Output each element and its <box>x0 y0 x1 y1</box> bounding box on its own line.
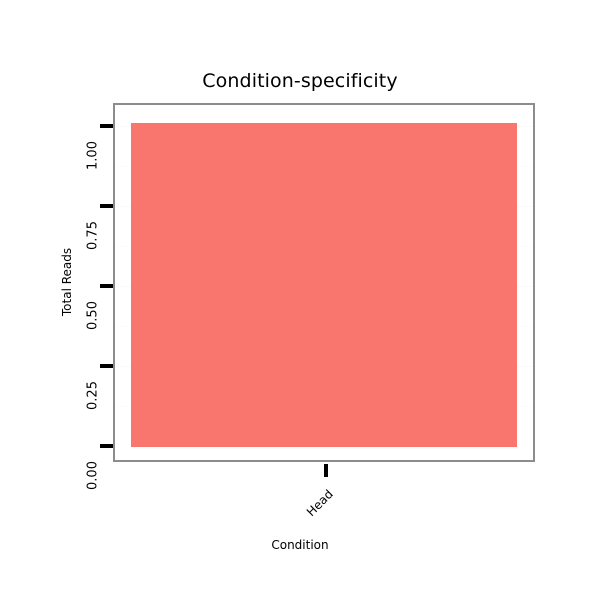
y-tick-mark-2 <box>100 284 113 288</box>
x-tick-label-head: Head <box>291 487 336 532</box>
y-tick-label-3: 0.75 <box>86 208 101 264</box>
y-tick-mark-1 <box>100 364 113 368</box>
bar-head[interactable] <box>131 123 517 447</box>
y-tick-label-0: 0.00 <box>86 448 101 504</box>
plot-panel <box>113 103 535 462</box>
plot-area <box>115 105 533 460</box>
x-axis-title: Condition <box>0 538 600 552</box>
y-tick-label-2: 0.50 <box>86 288 101 344</box>
chart-figure: Condition-specificity Total Reads 0.00 0… <box>0 0 600 600</box>
y-tick-mark-0 <box>100 444 113 448</box>
y-tick-label-1: 0.25 <box>86 368 101 424</box>
y-tick-label-4: 1.00 <box>86 128 101 184</box>
chart-title: Condition-specificity <box>0 70 600 92</box>
y-tick-mark-4 <box>100 124 113 128</box>
y-axis-title: Total Reads <box>60 237 74 327</box>
x-tick-mark-head <box>324 464 328 477</box>
y-tick-mark-3 <box>100 204 113 208</box>
